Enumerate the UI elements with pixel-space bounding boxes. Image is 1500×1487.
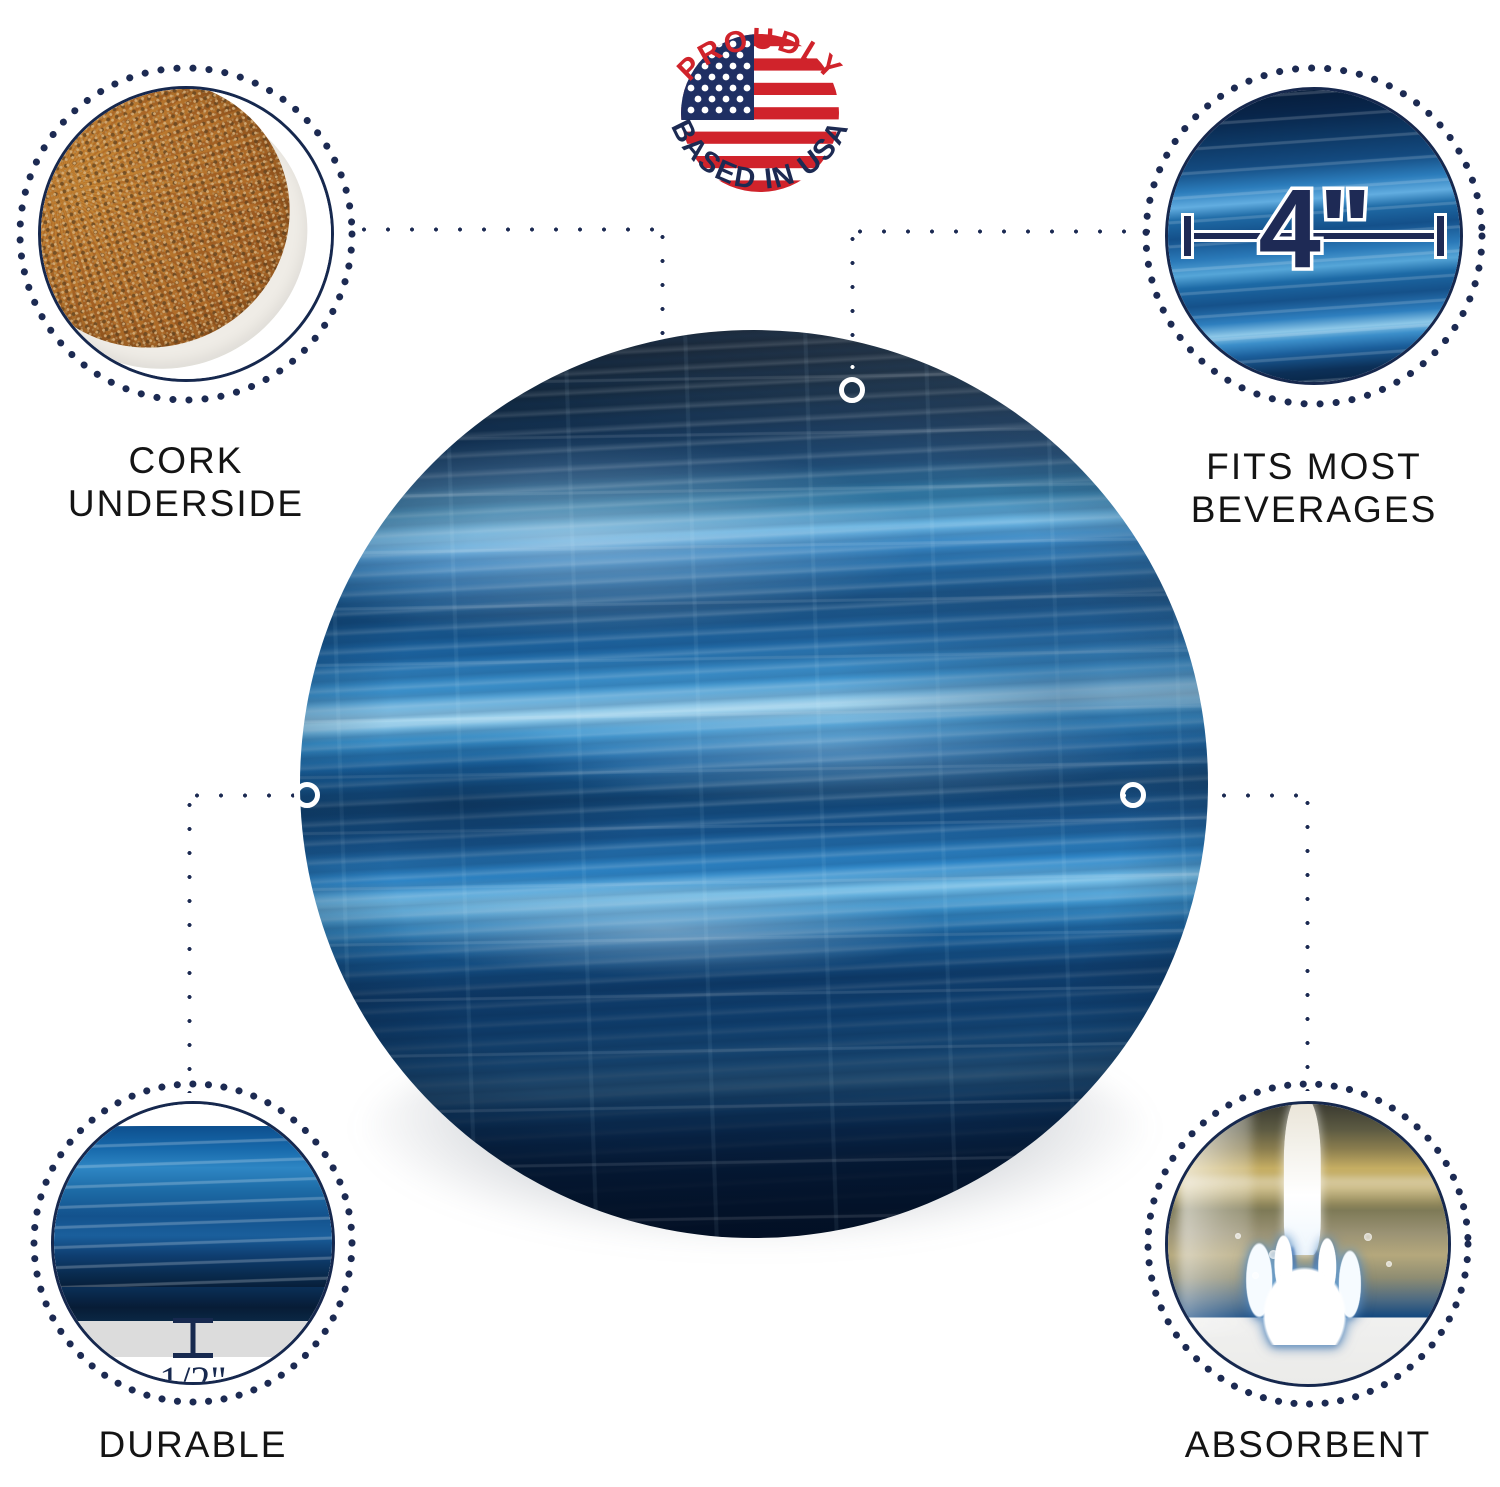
connector-durable-vertical [185,793,194,1093]
callout-cork-underside [14,62,358,406]
proudly-based-in-usa-badge: PROUDLY BASED IN USA [648,2,872,224]
durable-label-line-1: DURABLE [98,1424,287,1467]
product-left-marker [294,782,320,808]
cork-underside-label-line-1: CORK [68,440,304,483]
connector-cork-underside-horizontal [352,225,662,234]
product-top-marker [839,377,865,403]
callout-label-durable: DURABLE [98,1424,287,1467]
thickness-dimension-value: 1/2" [159,1361,226,1385]
connector-durable-horizontal [185,791,310,800]
diameter-dimension-value: 4" [1259,180,1370,281]
thickness-dimension-marker [173,1318,213,1358]
absorbent-image [1165,1101,1451,1387]
cork-underside-label-line-2: UNDERSIDE [68,483,304,526]
callout-label-absorbent: ABSORBENT [1185,1424,1432,1467]
liquid-splash-icon [1224,1210,1386,1344]
infographic-canvas: PROUDLY BASED IN USA CORK UNDERSIDE [0,0,1500,1487]
callout-fits-most-beverages: 4" [1140,62,1488,410]
diameter-dimension-cap-left [1181,213,1194,259]
coaster-surface [300,330,1208,1238]
durable-image: 1/2" [51,1101,335,1385]
connector-absorbent-vertical [1303,791,1312,1091]
absorbent-label-line-1: ABSORBENT [1185,1424,1432,1467]
callout-absorbent [1142,1078,1474,1410]
callout-label-cork-underside: CORK UNDERSIDE [68,440,304,526]
callout-label-fits-most-beverages: FITS MOST BEVERAGES [1191,446,1438,532]
fits-most-beverages-image: 4" [1165,87,1463,385]
callout-durable: 1/2" [28,1078,358,1408]
product-right-marker [1120,782,1146,808]
diameter-dimension-cap-right [1434,213,1447,259]
fits-most-beverages-label-line-1: FITS MOST [1191,446,1438,489]
connector-fits-most-horizontal [848,227,1158,236]
main-product-image [300,330,1210,1242]
cork-underside-image [38,86,334,382]
fits-most-beverages-label-line-2: BEVERAGES [1191,489,1438,532]
